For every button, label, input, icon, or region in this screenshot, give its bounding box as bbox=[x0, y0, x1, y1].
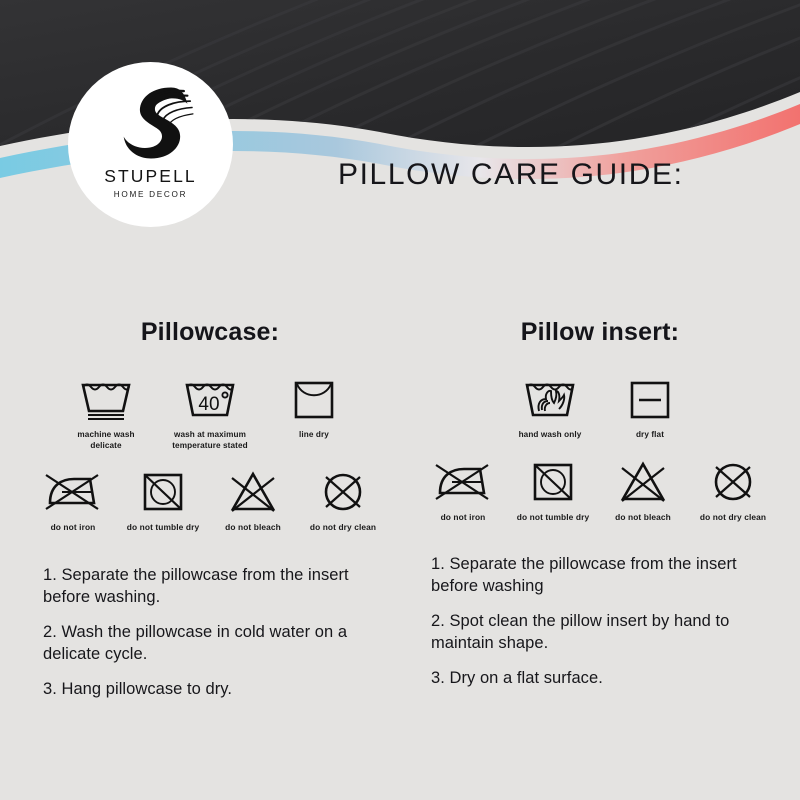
care-symbol-row-primary: machine wash delicate 40 wash at maximum… bbox=[25, 377, 395, 451]
do-not-bleach-icon bbox=[616, 459, 670, 505]
care-symbol-hand-wash-only: hand wash only bbox=[511, 377, 589, 441]
care-symbol-machine-wash-delicate: machine wash delicate bbox=[67, 377, 145, 451]
care-symbol-label: do not tumble dry bbox=[517, 512, 589, 523]
line-dry-icon bbox=[289, 377, 339, 423]
section-heading-pillowcase: Pillowcase: bbox=[25, 318, 395, 347]
care-symbol-wash-40: 40 wash at maximum temperature stated bbox=[167, 377, 253, 451]
do-not-tumble-dry-icon bbox=[526, 459, 580, 505]
instruction-list-pillowcase: 1. Separate the pillowcase from the inse… bbox=[25, 565, 395, 701]
instruction-step: 3. Hang pillowcase to dry. bbox=[43, 679, 391, 701]
wash-40-degrees-icon: 40 bbox=[181, 377, 239, 423]
care-symbol-label: do not tumble dry bbox=[127, 522, 199, 533]
do-not-dry-clean-icon bbox=[316, 469, 370, 515]
care-symbol-do-not-tumble-dry: do not tumble dry bbox=[120, 469, 206, 533]
care-symbol-do-not-iron: do not iron bbox=[424, 459, 502, 523]
section-pillowcase: Pillowcase: machine wash delicate 40 was… bbox=[25, 318, 395, 713]
care-symbol-line-dry: line dry bbox=[275, 377, 353, 441]
care-symbol-row-primary: hand wash only dry flat bbox=[415, 377, 785, 441]
section-heading-pillow-insert: Pillow insert: bbox=[415, 318, 785, 347]
do-not-bleach-icon bbox=[226, 469, 280, 515]
instruction-step: 1. Separate the pillowcase from the inse… bbox=[431, 554, 781, 598]
do-not-iron-icon bbox=[42, 469, 104, 515]
care-symbol-row-prohibitions: do not iron do not tumble dry do not ble… bbox=[25, 469, 395, 533]
instruction-list-pillow-insert: 1. Separate the pillowcase from the inse… bbox=[415, 554, 785, 690]
page-title: PILLOW CARE GUIDE: bbox=[338, 158, 684, 192]
care-symbol-dry-flat: dry flat bbox=[611, 377, 689, 441]
care-symbol-do-not-iron: do not iron bbox=[34, 469, 112, 533]
hand-wash-only-icon bbox=[521, 377, 579, 423]
care-symbol-do-not-tumble-dry: do not tumble dry bbox=[510, 459, 596, 523]
care-symbol-do-not-bleach: do not bleach bbox=[214, 469, 292, 533]
brand-tagline: HOME DECOR bbox=[114, 190, 187, 199]
instruction-step: 3. Dry on a flat surface. bbox=[431, 668, 781, 690]
instruction-step: 2. Wash the pillowcase in cold water on … bbox=[43, 622, 391, 666]
care-symbol-label: do not iron bbox=[51, 522, 96, 533]
do-not-tumble-dry-icon bbox=[136, 469, 190, 515]
care-symbol-label: dry flat bbox=[636, 430, 664, 441]
brand-logo: STUPELL HOME DECOR bbox=[68, 62, 233, 227]
stupell-swoosh-icon bbox=[105, 82, 197, 164]
instruction-step: 1. Separate the pillowcase from the inse… bbox=[43, 565, 391, 609]
do-not-iron-icon bbox=[432, 459, 494, 505]
care-symbol-label: do not bleach bbox=[615, 512, 671, 523]
care-symbol-label: machine wash delicate bbox=[67, 430, 145, 451]
care-symbol-label: do not bleach bbox=[225, 522, 281, 533]
instruction-step: 2. Spot clean the pillow insert by hand … bbox=[431, 611, 781, 655]
do-not-dry-clean-icon bbox=[706, 459, 760, 505]
care-symbol-label: do not dry clean bbox=[700, 512, 766, 523]
care-symbol-label: wash at maximum temperature stated bbox=[167, 430, 253, 451]
section-pillow-insert: Pillow insert: hand wash only dry flat bbox=[415, 318, 785, 703]
dry-flat-icon bbox=[625, 377, 675, 423]
care-symbol-label: line dry bbox=[299, 430, 329, 441]
machine-wash-delicate-icon bbox=[77, 377, 135, 423]
care-symbol-row-prohibitions: do not iron do not tumble dry do not ble… bbox=[415, 459, 785, 523]
care-symbol-label: hand wash only bbox=[519, 430, 582, 441]
svg-text:40: 40 bbox=[198, 394, 219, 415]
brand-name: STUPELL bbox=[104, 166, 197, 187]
care-symbol-label: do not dry clean bbox=[310, 522, 376, 533]
care-symbol-do-not-bleach: do not bleach bbox=[604, 459, 682, 523]
care-symbol-label: do not iron bbox=[441, 512, 486, 523]
care-symbol-do-not-dry-clean: do not dry clean bbox=[300, 469, 386, 533]
care-symbol-do-not-dry-clean: do not dry clean bbox=[690, 459, 776, 523]
